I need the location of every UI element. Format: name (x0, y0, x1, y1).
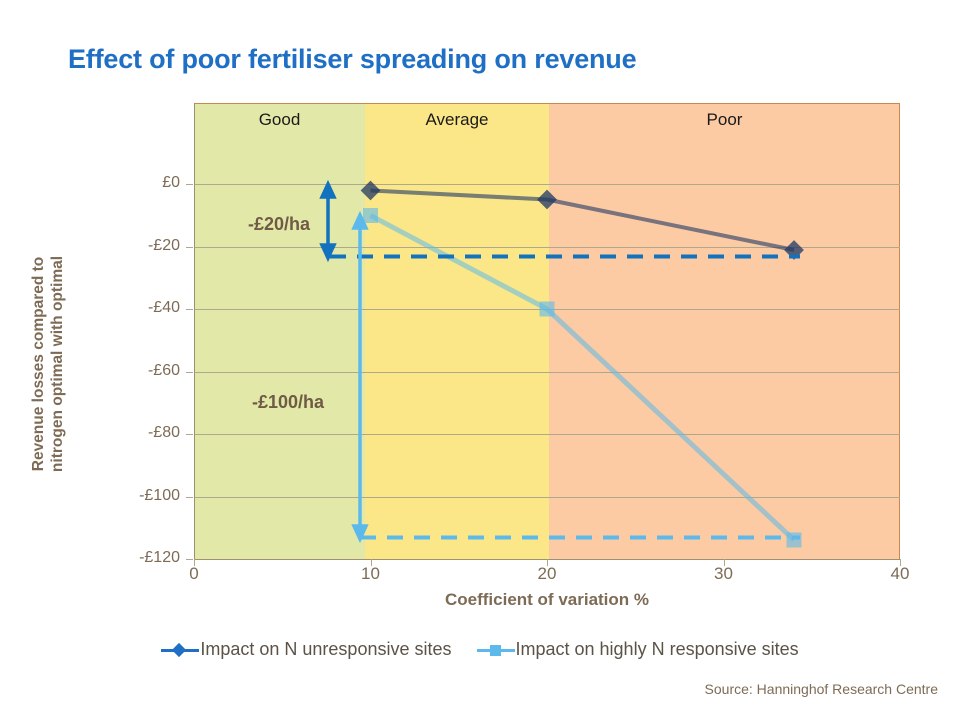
ytick-label-20: -£20 (100, 237, 180, 255)
ytick-mark-60 (186, 372, 193, 373)
ytick-mark-20 (186, 247, 193, 248)
gridline-0 (194, 184, 900, 185)
gridline-20 (194, 247, 900, 248)
gridline-40 (194, 309, 900, 310)
chart-title: Effect of poor fertiliser spreading on r… (68, 44, 636, 75)
y-axis-title-line2: nitrogen optimal with optimal (48, 179, 67, 549)
ytick-mark-40 (186, 309, 193, 310)
ytick-mark-100 (186, 497, 193, 498)
source-note: Source: Hanninghof Research Centre (705, 681, 938, 697)
y-axis-title: Revenue losses compared to nitrogen opti… (10, 178, 90, 548)
band-average (365, 103, 549, 560)
xtick-label-20: 20 (517, 564, 577, 584)
chart-container: Effect of poor fertiliser spreading on r… (0, 0, 960, 720)
band-poor (549, 103, 900, 560)
ytick-label-0: £0 (100, 174, 180, 192)
band-label-poor: Poor (549, 110, 900, 130)
square-marker-icon (477, 643, 515, 657)
ytick-label-100: -£100 (100, 487, 180, 505)
gridline-100 (194, 497, 900, 498)
band-label-good: Good (194, 110, 365, 130)
y-axis-line (194, 103, 195, 560)
annotation-gap-20: -£20/ha (248, 214, 310, 235)
ytick-label-40: -£40 (100, 299, 180, 317)
band-good (194, 103, 365, 560)
xtick-label-10: 10 (341, 564, 401, 584)
xtick-label-40: 40 (870, 564, 930, 584)
y-axis-title-line1: Revenue losses compared to (29, 179, 48, 549)
x-axis-title: Coefficient of variation % (194, 590, 900, 610)
ytick-label-60: -£60 (100, 362, 180, 380)
ytick-label-80: -£80 (100, 424, 180, 442)
ytick-mark-120 (186, 559, 193, 560)
legend-item-responsive[interactable]: Impact on highly N responsive sites (477, 638, 799, 660)
diamond-marker-icon (161, 643, 199, 657)
gridline-60 (194, 372, 900, 373)
legend-label-unresponsive: Impact on N unresponsive sites (200, 639, 451, 659)
ytick-mark-0 (186, 184, 193, 185)
legend-item-unresponsive[interactable]: Impact on N unresponsive sites (161, 638, 451, 660)
ytick-mark-80 (186, 434, 193, 435)
legend-label-responsive: Impact on highly N responsive sites (516, 639, 799, 659)
band-label-average: Average (365, 110, 549, 130)
xtick-label-0: 0 (164, 564, 224, 584)
xtick-label-30: 30 (694, 564, 754, 584)
annotation-gap-100: -£100/ha (252, 392, 324, 413)
gridline-80 (194, 434, 900, 435)
chart-legend: Impact on N unresponsive sites Impact on… (0, 638, 960, 660)
